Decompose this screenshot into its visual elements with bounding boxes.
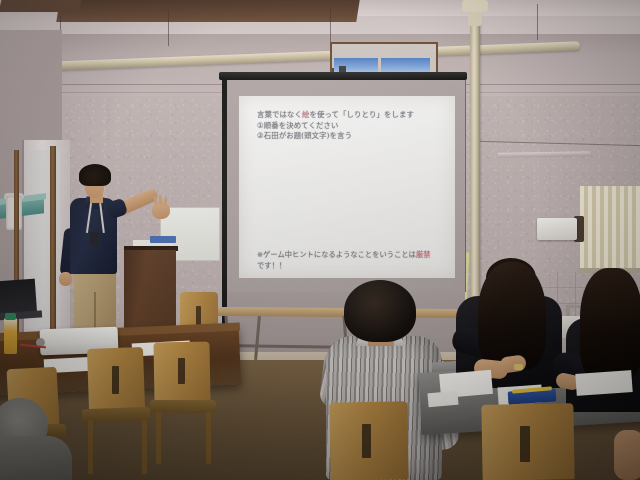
photo-scene: 言葉ではなく絵を使って「しりとり」をします ①順番を決めてください ②石田がお題… <box>0 0 640 480</box>
ceiling-panel <box>355 0 640 16</box>
chair-leg <box>156 412 161 464</box>
screen-top-bar <box>219 72 467 80</box>
pipe-hanger-4 <box>537 4 538 40</box>
paper-sheet[interactable] <box>427 391 458 408</box>
attendee-1-head <box>344 280 416 342</box>
attendee-2-hair <box>478 262 546 370</box>
slide-line-1: 言葉ではなく絵を使って「しりとり」をします <box>257 110 457 121</box>
wall-wood-strip-2 <box>50 146 56 358</box>
slide-footer-accent: 厳禁 <box>416 250 431 259</box>
presenter-left-hand <box>59 272 72 286</box>
pipe-hanger-2 <box>168 10 169 46</box>
chair-back-slot <box>178 358 185 384</box>
paper-sheet[interactable] <box>575 370 632 396</box>
slide-footer-line-1: ※ゲーム中ヒントになるようなことをいうことは厳禁 <box>257 250 465 261</box>
window-blinds[interactable] <box>580 186 640 270</box>
chair-back-slot <box>520 426 530 462</box>
slide-footer-line-2: です！！ <box>257 261 465 272</box>
slide-line-3: ②石田がお題(頭文字)を言う <box>257 131 457 142</box>
pipe-cap <box>462 0 488 12</box>
foreground-person-body <box>0 436 72 480</box>
slide-footer: ※ゲーム中ヒントになるようなことをいうことは厳禁 です！！ <box>257 250 465 271</box>
attendee-2-wristwatch <box>514 364 523 370</box>
screen-frame: 言葉ではなく絵を使って「しりとり」をします ①順番を決めてください ②石田がお題… <box>222 80 466 292</box>
pipe-hanger-3 <box>330 8 331 46</box>
presenter-right-hand <box>152 202 170 219</box>
ceiling-beam <box>56 0 359 22</box>
chair-back-slot <box>112 366 119 394</box>
screen-surface: 言葉ではなく絵を使って「しりとり」をします ①順番を決めてください ②石田がお題… <box>239 96 455 278</box>
chair-back-slot <box>362 424 371 458</box>
paper-towel-dispenser[interactable] <box>537 218 577 240</box>
ceiling-beam-secondary <box>0 0 81 12</box>
presenter-finger-2 <box>159 195 163 205</box>
wall-pipe-vertical <box>470 8 480 338</box>
slide-footer-pre: ※ゲーム中ヒントになるようなことをいうことは <box>257 250 416 259</box>
chair-leg <box>142 420 147 474</box>
tea-bottle-cap <box>5 313 16 320</box>
projection-screen: 言葉ではなく絵を使って「しりとり」をします ①順番を決めてください ②石田がお題… <box>219 72 467 322</box>
chair-leg <box>206 412 211 464</box>
attendee-3-hair <box>580 268 640 380</box>
tea-bottle[interactable] <box>4 318 17 354</box>
blue-folder <box>150 236 176 243</box>
slide-line-2: ①順番を決めてください <box>257 121 457 132</box>
presenter-finger-3 <box>164 197 168 206</box>
presenter-id-badge <box>90 232 99 245</box>
presenter-hair <box>79 164 111 186</box>
chair-leg <box>88 420 93 474</box>
slide-line-1-post: を使って「しりとり」をします <box>309 110 414 119</box>
foreground-arm <box>614 430 640 480</box>
slide-line-1-pre: 言葉ではなく <box>257 110 302 119</box>
slide-body: 言葉ではなく絵を使って「しりとり」をします ①順番を決めてください ②石田がお題… <box>257 110 457 142</box>
